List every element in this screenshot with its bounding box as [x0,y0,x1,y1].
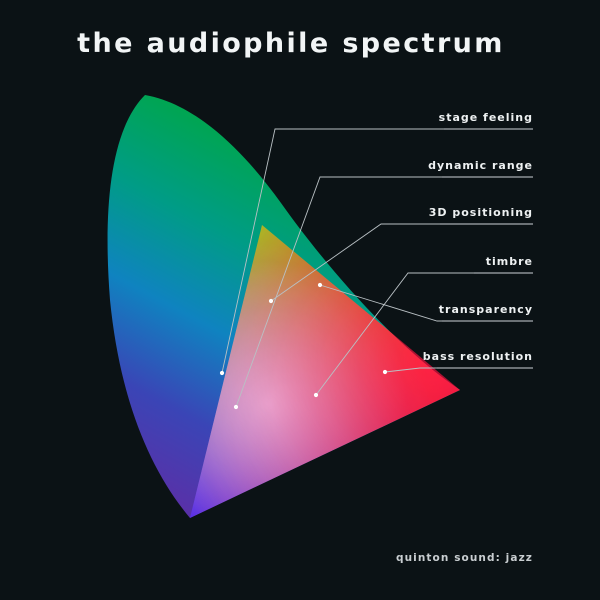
annotation-label-bass-resolution: bass resolution [423,350,533,363]
data-point-stage-feeling [220,371,224,375]
data-point-3d-positioning [269,299,273,303]
chromaticity-diagram [0,0,600,600]
footer-caption: quinton sound: jazz [396,552,533,564]
data-point-timbre [314,393,318,397]
data-point-bass-resolution [383,370,387,374]
page-title: the audiophile spectrum [0,28,600,59]
annotation-label-3d-positioning: 3D positioning [429,206,533,219]
data-point-transparency [318,283,322,287]
poster-canvas: the audiophile spectrum stage feeling dy… [0,0,600,600]
annotation-label-timbre: timbre [486,255,533,268]
annotation-label-dynamic-range: dynamic range [428,159,533,172]
annotation-label-stage-feeling: stage feeling [439,111,533,124]
data-point-dynamic-range [234,405,238,409]
annotation-label-transparency: transparency [439,303,533,316]
